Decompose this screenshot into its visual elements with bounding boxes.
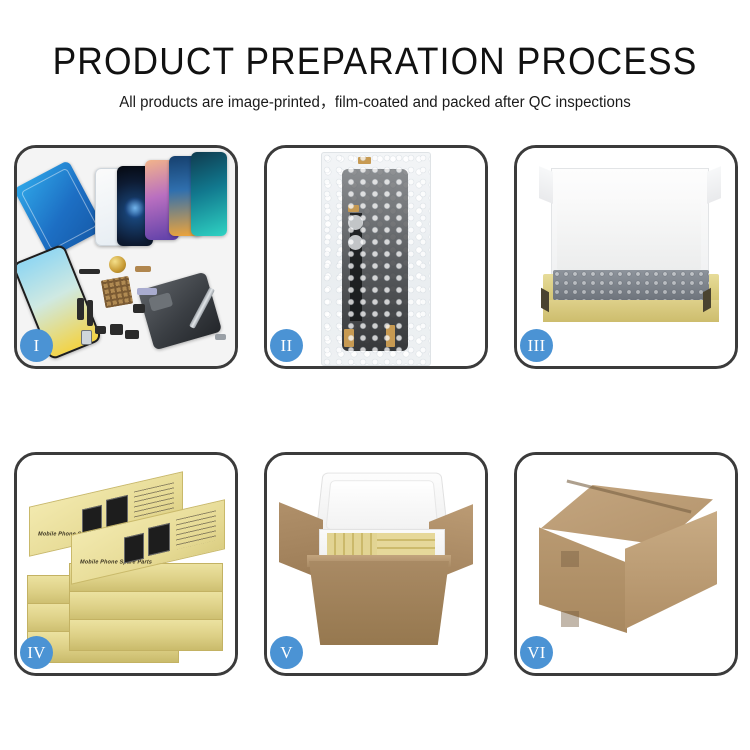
step-image-open-yellow-mailer	[517, 148, 735, 366]
step-badge-3: III	[520, 329, 553, 362]
page-title: PRODUCT PREPARATION PROCESS	[26, 0, 724, 84]
logic-board-icon	[101, 276, 133, 308]
box-spec-lines	[176, 510, 216, 549]
component-part-icon	[133, 304, 145, 313]
step-image-bubble-wrapped-part	[267, 148, 485, 366]
speaker-module-icon	[109, 256, 126, 273]
stacked-box-layer	[69, 619, 223, 651]
component-part-icon	[215, 334, 226, 340]
carton-body-icon	[309, 561, 449, 645]
bubble-wrapped-contents-icon	[553, 270, 709, 300]
component-part-icon	[95, 326, 106, 334]
tape-strip-icon	[348, 205, 359, 212]
phone-display-teal-icon	[191, 152, 227, 236]
step-badge-4: IV	[20, 636, 53, 669]
component-part-icon	[137, 288, 157, 295]
step-panel-1: I	[14, 145, 238, 369]
bubble-wrap-bag-icon	[321, 152, 431, 366]
step-image-phone-parts	[17, 148, 235, 366]
page-header: PRODUCT PREPARATION PROCESS All products…	[0, 0, 750, 113]
component-part-icon	[79, 269, 100, 274]
box-notch-icon	[541, 288, 549, 313]
step-badge-6: VI	[520, 636, 553, 669]
carton-left-face	[539, 523, 627, 633]
camera-module-icon	[348, 235, 363, 250]
step-panel-2: II	[264, 145, 488, 369]
foam-sheet-icon	[557, 196, 701, 270]
component-part-icon	[125, 330, 139, 339]
carton-handle-tab-icon	[561, 551, 579, 567]
step-panel-6: VI	[514, 452, 738, 676]
tape-strip-icon	[386, 325, 395, 347]
component-part-icon	[135, 266, 151, 272]
box-window-icon	[124, 533, 144, 564]
component-part-icon	[110, 324, 123, 335]
camera-module-icon	[348, 215, 363, 230]
step-panel-5: V	[264, 452, 488, 676]
tape-strip-icon	[358, 157, 371, 164]
step-panel-3: III	[514, 145, 738, 369]
carton-handle-tab-icon	[561, 611, 579, 627]
phone-back-housing-icon	[138, 272, 222, 351]
blue-adhesive-part-icon	[17, 160, 105, 258]
step-badge-5: V	[270, 636, 303, 669]
page-subtitle: All products are image-printed，film-coat…	[11, 84, 739, 113]
step-image-carton-with-foam	[267, 455, 485, 673]
step-image-stacked-yellow-boxes: Mobile Phone Spare Parts Mobile Phone Sp…	[17, 455, 235, 673]
component-part-icon	[87, 300, 93, 326]
tape-strip-icon	[344, 329, 354, 347]
step-badge-2: II	[270, 329, 303, 362]
component-part-icon	[81, 330, 92, 345]
step-badge-1: I	[20, 329, 53, 362]
box-window-icon	[148, 523, 170, 556]
step-image-sealed-carton	[517, 455, 735, 673]
box-label-text: Mobile Phone Spare Parts	[79, 560, 152, 566]
step-panel-4: Mobile Phone Spare Parts Mobile Phone Sp…	[14, 452, 238, 676]
mailer-front-wall-icon	[543, 300, 719, 322]
component-part-icon	[77, 298, 84, 320]
